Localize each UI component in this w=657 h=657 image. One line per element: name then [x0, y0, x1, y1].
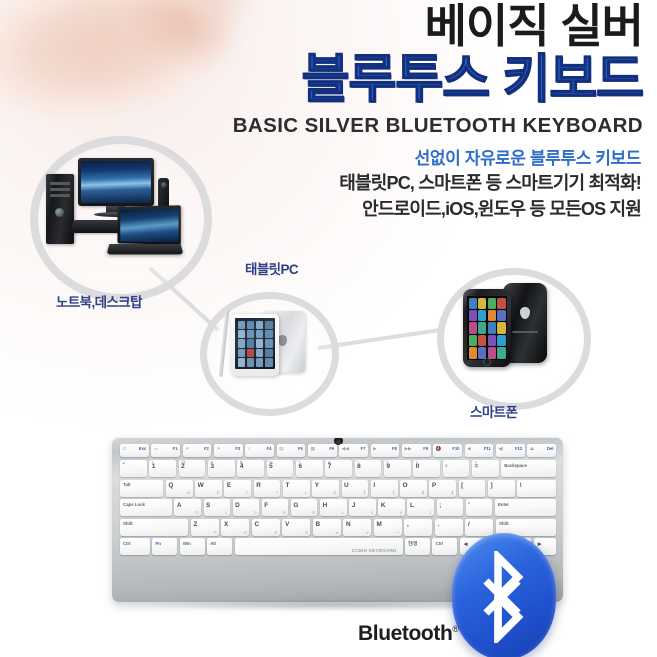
phone-app-icon — [488, 298, 496, 309]
key-label: ` — [123, 464, 125, 470]
key-label: F5 — [298, 447, 303, 451]
key-label: 4 — [240, 464, 243, 470]
phone-app-icon — [469, 322, 477, 333]
key-2[interactable]: @2 — [179, 460, 206, 477]
key-space[interactable]: CCBIN KEYBOARD — [235, 538, 403, 555]
key-label: O — [403, 483, 408, 489]
rewind-icon: ◀◀ — [342, 447, 349, 452]
brightness-down-icon: ☀ — [185, 447, 189, 452]
key-6[interactable]: ^6 — [296, 460, 323, 477]
key-0[interactable]: )0 — [413, 460, 440, 477]
description-line-2: 태블릿PC, 스마트폰 등 스마트기기 최적화! — [221, 171, 641, 197]
tablet-app-icon — [256, 339, 264, 347]
key-label: Shift — [123, 522, 133, 527]
key-key[interactable]: , — [404, 519, 432, 536]
key-hangul-label: ㅔ — [450, 491, 454, 495]
phone-front-icon — [463, 289, 511, 367]
key-label: / — [468, 522, 470, 528]
key-label: ' — [468, 503, 469, 509]
key-label: \ — [520, 483, 522, 489]
key-hangul-label: ㅁ — [195, 511, 199, 515]
key-label: Z — [193, 522, 197, 528]
key-label: 2 — [181, 464, 184, 470]
tablet-app-icon — [247, 330, 255, 338]
key-label: F11 — [484, 447, 491, 451]
phone-app-icon — [478, 310, 486, 321]
key-label: F8 — [392, 447, 397, 451]
key-label: T — [285, 483, 289, 489]
key-f4[interactable]: ⌕F4 — [245, 444, 274, 457]
key-label: ◄ — [462, 542, 468, 548]
key-label: = — [474, 464, 478, 470]
key-hangul-label: ㄴ — [224, 511, 228, 515]
keyboard-function-row: ⏻Esc▭F1☀F2☀F3⌕F4▤F5▦F6◀◀F7▶F8▶▶F9🔇F10◀F1… — [120, 444, 556, 457]
key-f5[interactable]: ▤F5 — [277, 444, 306, 457]
key-hangul-label: ㅎ — [312, 511, 316, 515]
key-label: [ — [461, 483, 463, 489]
key-f3[interactable]: ☀F3 — [214, 444, 243, 457]
key-label: ; — [439, 503, 441, 509]
key-label: V — [285, 522, 289, 528]
key-g[interactable]: Gㅎ — [291, 499, 318, 516]
key-label: I — [373, 483, 375, 489]
key-hangul-label: ㅜ — [366, 531, 370, 535]
key-key[interactable]: ; — [437, 499, 464, 516]
key-label: F10 — [452, 447, 459, 451]
tablet-app-icon — [256, 349, 264, 357]
key-key[interactable]: . — [435, 519, 463, 536]
key-hangul-label: ㅐ — [421, 491, 425, 495]
display-icon: ▭ — [154, 447, 158, 452]
keyboard-brand-text: CCBIN KEYBOARD — [352, 549, 397, 554]
phone-app-icon — [469, 310, 477, 321]
key-key[interactable]: _- — [443, 460, 470, 477]
key-d[interactable]: Dㅇ — [233, 499, 260, 516]
key-m[interactable]: Mㅡ — [374, 519, 402, 536]
key-a[interactable]: Aㅁ — [174, 499, 201, 516]
key-label: 6 — [298, 464, 301, 470]
bluetooth-wordmark-text: Bluetooth — [358, 622, 452, 645]
key-ctrl[interactable]: Ctrl — [432, 538, 457, 555]
key-hangul-label: ㄷ — [245, 491, 249, 495]
bluetooth-rune-icon — [476, 551, 532, 643]
key-3[interactable]: #3 — [208, 460, 235, 477]
key-f11[interactable]: ◀F11 — [465, 444, 494, 457]
tablet-app-icon — [247, 321, 255, 329]
tablet-app-icon — [238, 339, 246, 347]
phone-app-icon — [478, 298, 486, 309]
media-icon: ▦ — [310, 447, 314, 452]
monitor-icon — [78, 158, 154, 206]
key-label: Ctrl — [123, 542, 130, 547]
tablet-app-icon — [238, 349, 246, 357]
tablet-app-icon — [238, 330, 246, 338]
phone-app-icon — [497, 347, 505, 358]
tablet-illustration — [219, 307, 309, 385]
phone-app-icon — [478, 347, 486, 358]
key-tab[interactable]: Tab — [120, 480, 163, 497]
key-label: S — [206, 503, 210, 509]
key-del[interactable]: ⏏Del — [527, 444, 556, 457]
key-5[interactable]: %5 — [267, 460, 294, 477]
phone-app-icon — [488, 322, 496, 333]
keyboard-icon: ▤ — [279, 447, 283, 452]
eject-icon: ⏏ — [530, 447, 534, 452]
key-label: Alt — [210, 542, 216, 547]
key-label: M — [376, 522, 381, 528]
key-key[interactable]: += — [472, 460, 499, 477]
key-label: H — [323, 503, 327, 509]
volume-up-icon: ◀) — [498, 447, 503, 452]
key-hangul-label: ㅅ — [304, 491, 308, 495]
key-hangul-label: ㅍ — [305, 531, 309, 535]
description-block: 선없이 자유로운 블루투스 키보드 태블릿PC, 스마트폰 등 스마트기기 최적… — [221, 147, 641, 222]
key-hangul-label: ㅇ — [253, 511, 257, 515]
key-hangul-label: ㅗ — [341, 511, 345, 515]
key-label: W — [198, 483, 204, 489]
key-s[interactable]: Sㄴ — [204, 499, 231, 516]
key-label: P — [432, 483, 436, 489]
key-f12[interactable]: ◀)F12 — [496, 444, 525, 457]
key-f10[interactable]: 🔇F10 — [433, 444, 462, 457]
forward-icon: ▶▶ — [404, 447, 411, 452]
key-hangul-label: ㄹ — [282, 511, 286, 515]
key-w[interactable]: Wㅈ — [195, 480, 222, 497]
key-key[interactable]: \ — [517, 480, 556, 497]
key-label: C — [254, 522, 258, 528]
key-label: F — [264, 503, 268, 509]
key-l[interactable]: Lㅣ — [407, 499, 434, 516]
key-p[interactable]: Pㅔ — [429, 480, 456, 497]
key-hangul-label: ㅛ — [333, 491, 337, 495]
key-label: N — [346, 522, 350, 528]
key-label: U — [344, 483, 348, 489]
tablet-app-icon — [265, 349, 273, 357]
key-label: B — [315, 522, 319, 528]
key-8[interactable]: *8 — [355, 460, 382, 477]
key-y[interactable]: Yㅛ — [312, 480, 339, 497]
tablet-app-icon — [265, 330, 273, 338]
device-label-phone: 스마트폰 — [470, 401, 517, 421]
key-label: E — [227, 483, 231, 489]
registered-mark: ® — [452, 624, 458, 634]
search-icon: ⌕ — [248, 447, 251, 452]
key-n[interactable]: Nㅜ — [343, 519, 371, 536]
key-hangul-label: ㅋ — [213, 531, 217, 535]
key-hangul-label: ㅈ — [216, 491, 220, 495]
description-line-3: 안드로이드,iOS,윈도우 등 모든OS 지원 — [221, 197, 641, 223]
key-label: Esc — [139, 447, 146, 451]
key-label: Tab — [123, 483, 130, 488]
key-label: Caps Lock — [123, 503, 145, 508]
description-line-1: 선없이 자유로운 블루투스 키보드 — [221, 147, 641, 171]
key-label: F3 — [235, 447, 240, 451]
phone-app-icon — [469, 298, 477, 309]
key-hangul-label: ㅂ — [187, 491, 191, 495]
mute-icon: 🔇 — [436, 447, 442, 452]
key-label: Win — [183, 542, 191, 547]
phone-app-icon — [488, 335, 496, 346]
key-label: L — [410, 503, 414, 509]
key-hangul-label: ㅌ — [244, 531, 248, 535]
key-k[interactable]: Kㅏ — [378, 499, 405, 516]
key-f7[interactable]: ◀◀F7 — [339, 444, 368, 457]
key-o[interactable]: Oㅐ — [400, 480, 427, 497]
key-label: - — [445, 464, 447, 470]
key-key[interactable]: [ — [459, 480, 486, 497]
key-h[interactable]: Hㅗ — [320, 499, 347, 516]
key-f1[interactable]: ▭F1 — [151, 444, 180, 457]
key-u[interactable]: Uㅕ — [342, 480, 369, 497]
key-4[interactable]: $4 — [237, 460, 264, 477]
device-label-tablet: 태블릿PC — [245, 258, 298, 278]
key-hangul-label: ㅡ — [396, 531, 400, 535]
tablet-app-icon — [256, 321, 264, 329]
key-label: Y — [315, 483, 319, 489]
phone-app-icon — [488, 310, 496, 321]
key-z[interactable]: Zㅋ — [191, 519, 219, 536]
key-label: F4 — [267, 447, 272, 451]
key-label: F7 — [361, 447, 366, 451]
key-label: F2 — [204, 447, 209, 451]
key-hangul-label: ㅓ — [370, 511, 374, 515]
tablet-app-icon — [265, 339, 273, 347]
key-label: , — [407, 522, 409, 528]
key-hangul-label: ㅕ — [362, 491, 366, 495]
key-label: F9 — [423, 447, 428, 451]
key-label: D — [235, 503, 239, 509]
keyboard-qwerty-row: TabQㅂWㅈEㄷRㄱTㅅYㅛUㅕIㅑOㅐPㅔ[]\ — [120, 480, 556, 497]
headline-english: BASIC SILVER BLUETOOTH KEYBOARD — [213, 114, 643, 138]
key-x[interactable]: Xㅌ — [221, 519, 249, 536]
tablet-app-icon — [265, 358, 273, 366]
phone-app-icon — [469, 347, 477, 358]
phone-app-icon — [478, 322, 486, 333]
bluetooth-logo-badge — [452, 533, 556, 657]
key-label: 5 — [269, 464, 272, 470]
key-alt[interactable]: Alt — [207, 538, 232, 555]
smartphone-illustration — [455, 281, 559, 377]
key-r[interactable]: Rㄱ — [254, 480, 281, 497]
stylus-icon — [218, 309, 229, 377]
key-한영[interactable]: 한/영 — [405, 538, 430, 555]
key-win[interactable]: Win — [180, 538, 205, 555]
play-pause-icon: ▶ — [373, 447, 377, 452]
key-f2[interactable]: ☀F2 — [183, 444, 212, 457]
key-label: X — [224, 522, 228, 528]
tablet-front-icon — [231, 314, 279, 376]
tablet-app-icon — [247, 339, 255, 347]
key-label: 0 — [416, 464, 419, 470]
key-f[interactable]: Fㄹ — [262, 499, 289, 516]
key-label: Q — [168, 483, 173, 489]
phone-app-icon — [497, 310, 505, 321]
desktop-laptop-illustration — [42, 150, 188, 274]
home-button-icon — [483, 358, 491, 366]
key-backspace[interactable]: Backspace — [501, 460, 556, 477]
key-label: Backspace — [504, 464, 527, 469]
key-label: 1 — [152, 464, 155, 470]
key-hangul-label: ㅊ — [274, 531, 278, 535]
key-label: G — [293, 503, 298, 509]
phone-app-icon — [497, 322, 505, 333]
key-capslock[interactable]: Caps Lock — [120, 499, 172, 516]
key-ctrl[interactable]: Ctrl — [120, 538, 150, 555]
phone-app-icon — [469, 335, 477, 346]
key-label: . — [437, 522, 439, 528]
key-t[interactable]: Tㅅ — [283, 480, 310, 497]
key-label: ] — [490, 483, 492, 489]
key-9[interactable]: (9 — [384, 460, 411, 477]
key-enter[interactable]: Enter — [495, 499, 556, 516]
key-label: 8 — [357, 464, 360, 470]
laptop-icon — [108, 206, 182, 262]
key-label: F12 — [515, 447, 522, 451]
tablet-app-icon — [256, 358, 264, 366]
headline-korean-primary: 베이직 실버 — [213, 2, 643, 50]
key-hangul-label: ㄱ — [275, 491, 279, 495]
phone-app-icon — [478, 335, 486, 346]
key-label: Ctrl — [435, 542, 442, 547]
phone-app-icon — [488, 347, 496, 358]
key-esc[interactable]: ⏻Esc — [120, 444, 149, 457]
key-key[interactable]: ~` — [120, 460, 147, 477]
key-label: Enter — [498, 503, 509, 508]
key-f9[interactable]: ▶▶F9 — [402, 444, 431, 457]
key-label: K — [381, 503, 385, 509]
tablet-app-icon — [247, 349, 255, 357]
key-v[interactable]: Vㅍ — [282, 519, 310, 536]
key-label: A — [177, 503, 181, 509]
volume-down-icon: ◀ — [467, 447, 471, 452]
tablet-app-icon — [247, 358, 255, 366]
bluetooth-wordmark: Bluetooth® — [358, 622, 459, 646]
phone-app-icon — [497, 298, 505, 309]
advertisement-page: 베이직 실버 블루투스 키보드 BASIC SILVER BLUETOOTH K… — [0, 0, 657, 657]
key-i[interactable]: Iㅑ — [371, 480, 398, 497]
keyboard-home-row: Caps LockAㅁSㄴDㅇFㄹGㅎHㅗJㅓKㅏLㅣ;'Enter — [120, 499, 556, 516]
key-label: Fn — [155, 542, 160, 547]
headline-korean-secondary: 블루투스 키보드 — [213, 52, 643, 108]
key-q[interactable]: Qㅂ — [166, 480, 193, 497]
tablet-app-icon — [265, 321, 273, 329]
desktop-tower-icon — [46, 174, 74, 244]
key-7[interactable]: &7 — [325, 460, 352, 477]
device-label-pc: 노트북,데스크탑 — [56, 291, 142, 311]
key-key[interactable]: ' — [466, 499, 493, 516]
keyboard-shift-row: ShiftZㅋXㅌCㅊVㅍBㅠNㅜMㅡ,./Shift — [120, 519, 556, 536]
key-c[interactable]: Cㅊ — [252, 519, 280, 536]
key-1[interactable]: !1 — [149, 460, 176, 477]
key-label: F1 — [173, 447, 178, 451]
key-hangul-label: ㅣ — [428, 511, 432, 515]
key-label: 9 — [386, 464, 389, 470]
key-shift[interactable]: Shift — [120, 519, 188, 536]
key-label: 7 — [328, 464, 331, 470]
key-key[interactable]: ] — [488, 480, 515, 497]
key-b[interactable]: Bㅠ — [313, 519, 341, 536]
key-f6[interactable]: ▦F6 — [308, 444, 337, 457]
key-label: J — [352, 503, 355, 509]
key-hangul-label: ㅠ — [335, 531, 339, 535]
key-f8[interactable]: ▶F8 — [371, 444, 400, 457]
key-label: F6 — [329, 447, 334, 451]
key-label: Del — [547, 447, 554, 451]
key-label: 3 — [210, 464, 213, 470]
tablet-app-icon — [238, 321, 246, 329]
key-label: Shift — [499, 522, 509, 527]
key-hangul-label: ㅏ — [399, 511, 403, 515]
keyboard-number-row: ~`!1@2#3$4%5^6&7*8(9)0_-+=Backspace — [120, 460, 556, 477]
power-icon: ⏻ — [123, 447, 127, 452]
phone-app-icon — [497, 335, 505, 346]
tablet-app-icon — [256, 330, 264, 338]
key-hangul-label: ㅑ — [392, 491, 396, 495]
tablet-app-icon — [238, 358, 246, 366]
brightness-up-icon: ☀ — [216, 447, 220, 452]
key-label: 한/영 — [408, 542, 417, 547]
headline-block: 베이직 실버 블루투스 키보드 BASIC SILVER BLUETOOTH K… — [213, 2, 643, 138]
key-fn[interactable]: Fn — [152, 538, 177, 555]
key-j[interactable]: Jㅓ — [349, 499, 376, 516]
key-e[interactable]: Eㄷ — [224, 480, 251, 497]
key-label: R — [256, 483, 260, 489]
key-key[interactable]: / — [465, 519, 493, 536]
